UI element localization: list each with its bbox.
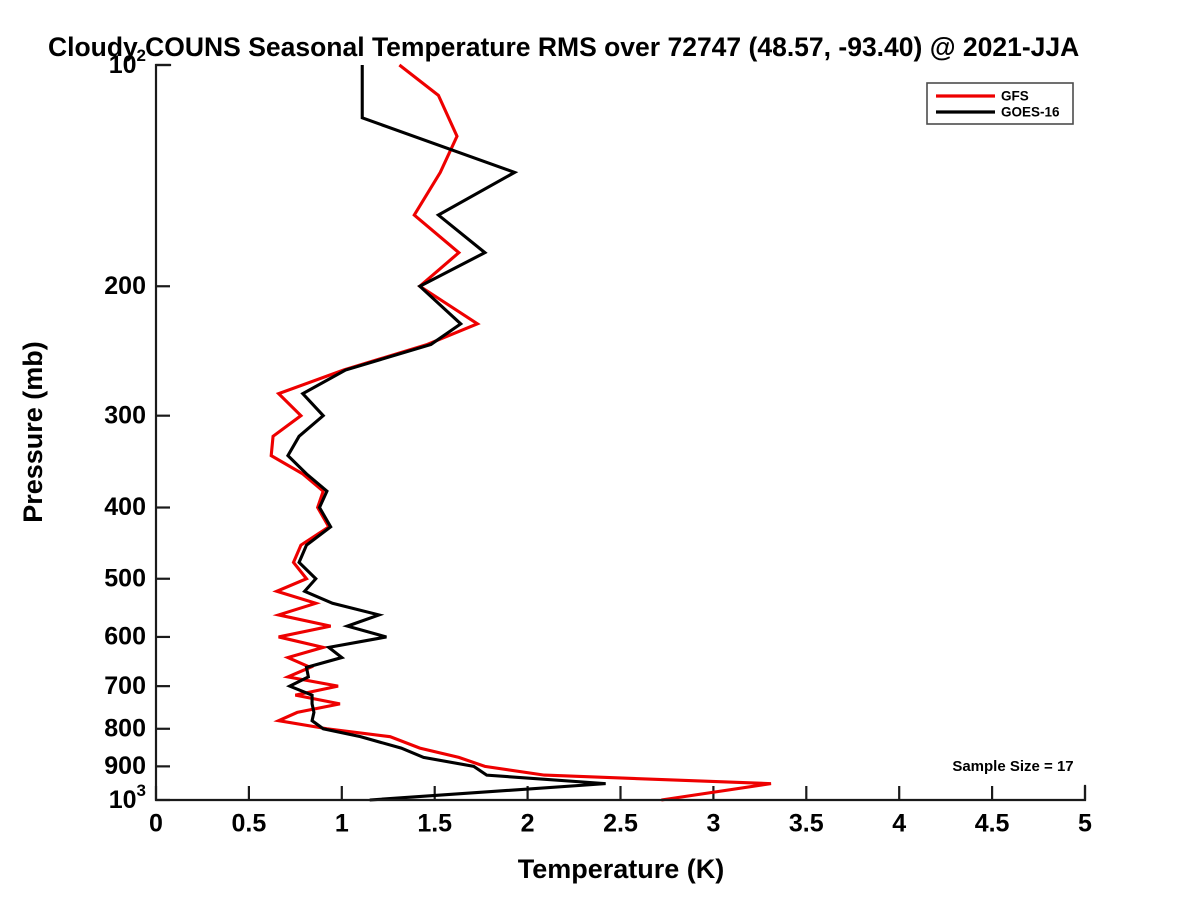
y-tick-label: 900 <box>104 752 146 780</box>
y-tick-label: 700 <box>104 672 146 700</box>
temperature-rms-profile-chart: Cloudy COUNS Seasonal Temperature RMS ov… <box>0 0 1200 900</box>
x-tick-label: 2.5 <box>603 810 638 838</box>
x-tick-label: 5 <box>1078 810 1092 838</box>
series-line-gfs <box>271 65 771 800</box>
chart-figure: Cloudy COUNS Seasonal Temperature RMS ov… <box>0 0 1200 900</box>
x-axis-ticks: 00.511.522.533.544.55 <box>149 786 1092 838</box>
sample-size-annotation: Sample Size = 17 <box>952 758 1073 775</box>
data-series-group <box>271 65 771 800</box>
x-tick-label: 1 <box>335 810 349 838</box>
y-tick-label: 800 <box>104 714 146 742</box>
x-tick-label: 3 <box>706 810 720 838</box>
x-tick-label: 3.5 <box>789 810 824 838</box>
chart-title: Cloudy COUNS Seasonal Temperature RMS ov… <box>48 32 1079 62</box>
y-tick-label: 300 <box>104 401 146 429</box>
x-tick-label: 4.5 <box>975 810 1010 838</box>
x-tick-label: 0.5 <box>232 810 267 838</box>
x-tick-label: 4 <box>892 810 906 838</box>
x-tick-label: 1.5 <box>417 810 452 838</box>
x-axis-title: Temperature (K) <box>518 854 725 884</box>
y-tick-label: 500 <box>104 564 146 592</box>
x-tick-label: 2 <box>521 810 535 838</box>
x-tick-label: 0 <box>149 810 163 838</box>
series-line-goes-16 <box>288 65 606 800</box>
y-tick-label: 102 <box>109 46 146 78</box>
legend-label-goes-16: GOES-16 <box>1001 105 1060 120</box>
y-axis-title: Pressure (mb) <box>18 341 48 523</box>
y-tick-label: 103 <box>109 781 146 813</box>
y-tick-label: 600 <box>104 623 146 651</box>
y-axis-ticks: 102200300400500600700800900103 <box>104 46 170 813</box>
y-tick-label: 400 <box>104 493 146 521</box>
chart-legend[interactable]: GFSGOES-16 <box>927 83 1073 124</box>
y-tick-label: 200 <box>104 272 146 300</box>
legend-label-gfs: GFS <box>1001 89 1029 104</box>
